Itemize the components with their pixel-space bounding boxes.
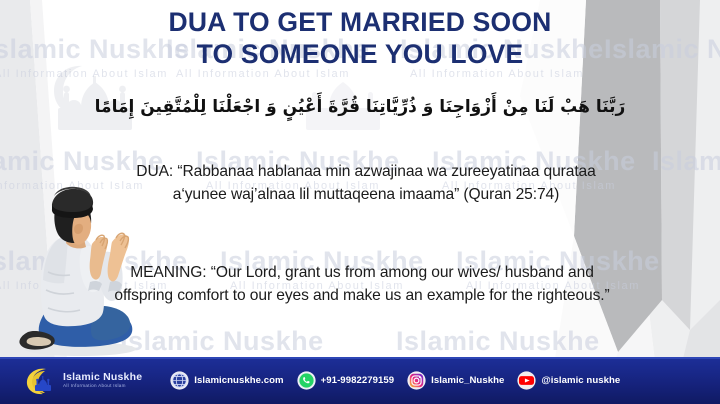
whatsapp-icon — [297, 371, 316, 390]
footer-website-label: Islamicnuskhe.com — [194, 375, 283, 386]
footer-brand-name: Islamic Nuskhe — [63, 372, 142, 383]
title-line-2: TO SOMEONE YOU LOVE — [0, 38, 720, 70]
globe-icon — [170, 371, 189, 390]
footer-whatsapp-item[interactable]: +91-9982279159 — [297, 371, 395, 390]
dua-meaning: MEANING: “Our Lord, grant us from among … — [104, 261, 620, 307]
footer-youtube-item[interactable]: @islamic nuskhe — [517, 371, 620, 390]
footer-social-list: Islamicnuskhe.com +91-9982279159 — [170, 371, 620, 390]
crescent-moon-mosque-icon — [24, 366, 58, 396]
footer-whatsapp-label: +91-9982279159 — [321, 375, 395, 386]
youtube-icon — [517, 371, 536, 390]
instagram-icon — [407, 371, 426, 390]
footer-instagram-label: Islamic_Nuskhe — [431, 375, 504, 386]
footer-youtube-label: @islamic nuskhe — [541, 375, 620, 386]
footer-website-item[interactable]: Islamicnuskhe.com — [170, 371, 283, 390]
footer-instagram-item[interactable]: Islamic_Nuskhe — [407, 371, 504, 390]
footer-logo-text: Islamic Nuskhe All Information About Isl… — [63, 372, 142, 389]
footer-logo[interactable]: Islamic Nuskhe All Information About Isl… — [24, 366, 142, 396]
footer-bar: Islamic Nuskhe All Information About Isl… — [0, 357, 720, 404]
poster-title: DUA TO GET MARRIED SOON TO SOMEONE YOU L… — [0, 6, 720, 70]
arabic-verse: رَبَّنَا هَبْ لَنَا مِنْ أَزْوَاجِنَا وَ… — [0, 92, 720, 122]
title-line-1: DUA TO GET MARRIED SOON — [0, 6, 720, 38]
poster-canvas: Islamic Nuskhe All Information About Isl… — [0, 0, 720, 404]
dua-transliteration: DUA: “Rabbanaa hablanaa min azwajinaa wa… — [116, 160, 616, 206]
footer-brand-tagline: All Information About Islam — [63, 384, 142, 389]
